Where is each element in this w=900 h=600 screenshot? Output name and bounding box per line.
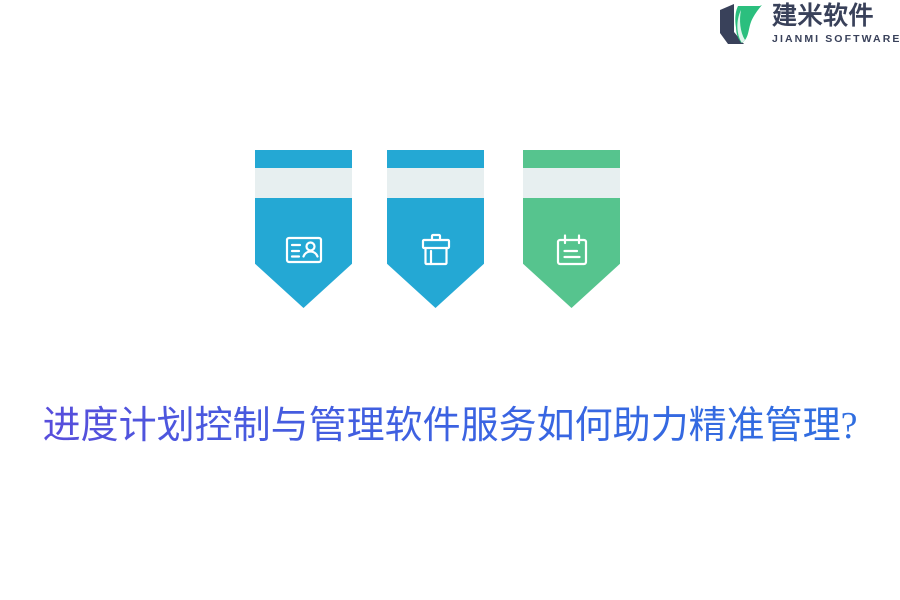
badge-item-calendar[interactable] (523, 150, 620, 308)
toolbox-briefcase-icon (414, 230, 458, 270)
badge-band (387, 168, 484, 198)
id-card-contact-icon (282, 230, 326, 270)
brand-text: 建米软件 JIANMI SOFTWARE (772, 4, 900, 45)
badge-band (523, 168, 620, 198)
brand-name-en: JIANMI SOFTWARE (772, 34, 900, 45)
brand-logo[interactable]: 建米软件 JIANMI SOFTWARE (718, 0, 890, 48)
badge-row (255, 150, 620, 310)
brand-name-cn: 建米软件 (772, 4, 900, 29)
badge-band (255, 168, 352, 198)
badge-item-toolbox[interactable] (387, 150, 484, 308)
calendar-notepad-icon (550, 230, 594, 270)
page-title: 进度计划控制与管理软件服务如何助力精准管理? (0, 400, 900, 452)
jianmi-leaf-mark-icon (718, 2, 766, 46)
badge-item-contact[interactable] (255, 150, 352, 308)
